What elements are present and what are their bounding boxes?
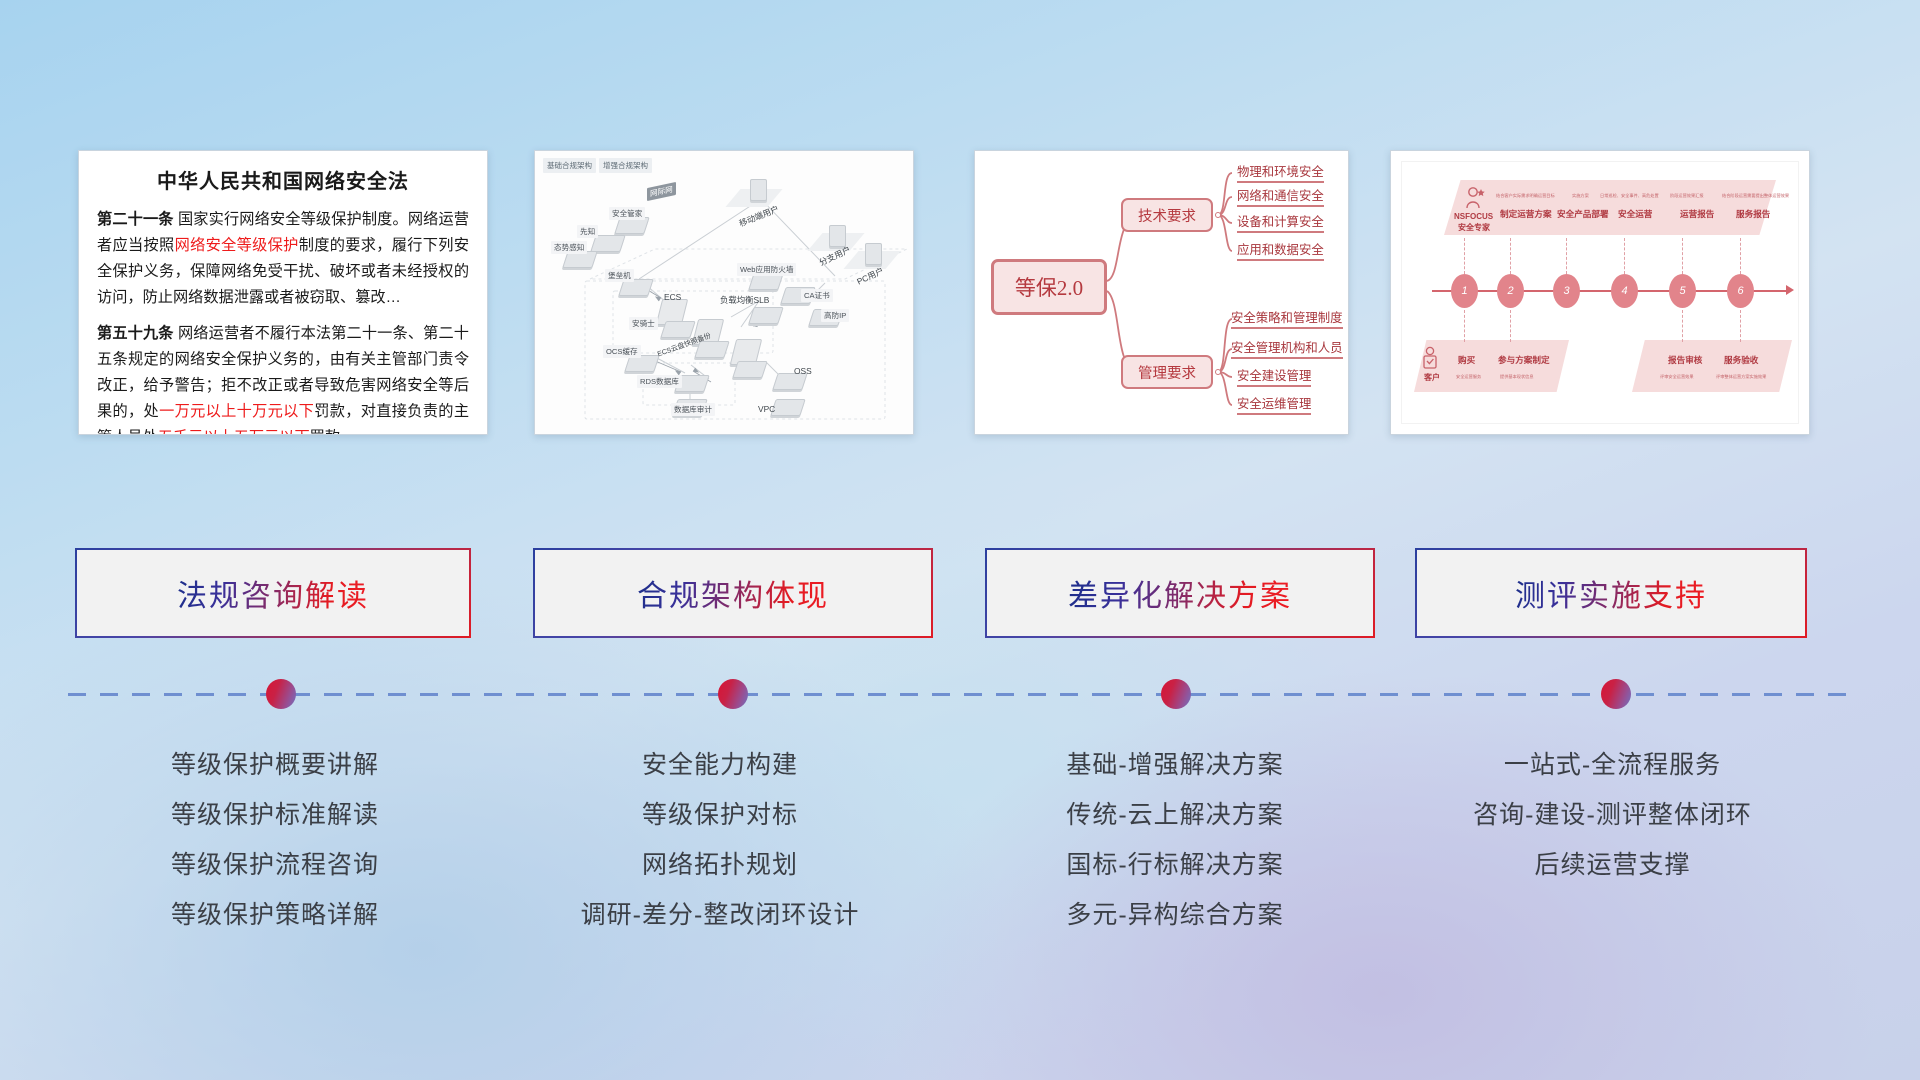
law-article-59: 第五十九条 网络运营者不履行本法第二十一条、第二十五条规定的网络安全保护义务的，… bbox=[97, 321, 469, 435]
top-step-sub: 结合客户实际需求明确运营目标 bbox=[1496, 193, 1555, 199]
timeline-top-band bbox=[1444, 180, 1776, 235]
label-gaofang-ip: 高防IP bbox=[821, 309, 849, 322]
bottom-step-title: 报告审核 bbox=[1668, 354, 1702, 366]
list-item: 等级保护标准解读 bbox=[60, 790, 490, 840]
section-title-box-1[interactable]: 法规咨询解读 bbox=[75, 548, 471, 638]
list-item: 安全能力构建 bbox=[500, 740, 940, 790]
timeline-tick bbox=[1510, 238, 1511, 274]
mindmap-leaf: 安全管理机构和人员 bbox=[1231, 338, 1343, 359]
label-anqishi: 安骑士 bbox=[629, 317, 658, 330]
timeline-tick bbox=[1566, 238, 1567, 274]
article-59-highlight-1: 一万元以上十万元以下 bbox=[159, 403, 314, 420]
article-59-label: 第五十九条 bbox=[97, 325, 174, 342]
section-title-label: 测评实施支持 bbox=[1515, 571, 1707, 615]
section-title-label: 法规咨询解读 bbox=[177, 571, 369, 615]
top-step-title: 安全运营 bbox=[1618, 208, 1652, 220]
list-item: 咨询-建设-测评整体闭环 bbox=[1400, 790, 1825, 840]
top-step-title: 服务报告 bbox=[1736, 208, 1770, 220]
label-slb: 负载均衡SLB bbox=[717, 293, 772, 307]
list-item: 传统-云上解决方案 bbox=[955, 790, 1395, 840]
mindmap-branch-management: 管理要求 bbox=[1121, 355, 1213, 389]
icon-ecs-cluster-d bbox=[732, 361, 768, 378]
security-expert-icon bbox=[1464, 186, 1486, 210]
architecture-canvas: 基础合规架构 增强合规架构 bbox=[535, 151, 913, 434]
top-step-title: 制定运营方案 bbox=[1500, 208, 1552, 220]
mindmap-root: 等保2.0 bbox=[991, 259, 1107, 315]
label-situation-awareness: 态势感知 bbox=[551, 241, 587, 254]
list-item: 基础-增强解决方案 bbox=[955, 740, 1395, 790]
top-step-sub: 日常巡检、安全事件、高危处置 bbox=[1600, 193, 1659, 199]
customer-icon bbox=[1420, 346, 1440, 370]
label-security-butler: 安全管家 bbox=[609, 207, 645, 220]
label-ecs: ECS bbox=[661, 291, 684, 303]
law-article-21: 第二十一条 国家实行网络安全等级保护制度。网络运营者应当按照网络安全等级保护制度… bbox=[97, 207, 469, 312]
icon-slb bbox=[748, 307, 784, 324]
list-item: 国标-行标解决方案 bbox=[955, 840, 1395, 890]
law-title: 中华人民共和国网络安全法 bbox=[97, 165, 469, 194]
mindmap-leaf: 应用和数据安全 bbox=[1237, 240, 1324, 261]
mindmap-branch-technical: 技术要求 bbox=[1121, 198, 1213, 232]
timeline-marker-1[interactable] bbox=[266, 679, 296, 709]
label-xianzhi: 先知 bbox=[577, 225, 598, 238]
architecture-diagram-card[interactable]: 基础合规架构 增强合规架构 bbox=[534, 150, 914, 435]
timeline-step-number: 4 bbox=[1611, 274, 1638, 308]
section-title-box-3[interactable]: 差异化解决方案 bbox=[985, 548, 1375, 638]
label-db-audit: 数据库审计 bbox=[671, 403, 715, 416]
bottom-step-title: 服务验收 bbox=[1724, 354, 1758, 366]
bottom-step-title: 参与方案制定 bbox=[1498, 354, 1550, 366]
bottom-step-sub: 评审安全运营效果 bbox=[1660, 374, 1694, 380]
article-21-label: 第二十一条 bbox=[97, 211, 174, 228]
bottom-step-sub: 评审整体运营方案实施效果 bbox=[1716, 374, 1766, 380]
section-title-label: 合规架构体现 bbox=[637, 571, 829, 615]
label-waf: Web应用防火墙 bbox=[737, 263, 796, 276]
label-rds-database: RDS数据库 bbox=[637, 375, 682, 388]
timeline-marker-2[interactable] bbox=[718, 679, 748, 709]
image-card-row: 中华人民共和国网络安全法 第二十一条 国家实行网络安全等级保护制度。网络运营者应… bbox=[0, 150, 1920, 440]
list-item: 等级保护流程咨询 bbox=[60, 840, 490, 890]
icon-mobile-device bbox=[750, 179, 767, 201]
bottom-step-sub: 安全运营服务 bbox=[1456, 374, 1481, 380]
list-item: 一站式-全流程服务 bbox=[1400, 740, 1825, 790]
timeline-tick bbox=[1682, 238, 1683, 274]
section-title-box-2[interactable]: 合规架构体现 bbox=[533, 548, 933, 638]
label-bastion-host: 堡垒机 bbox=[605, 269, 634, 282]
timeline-step-number: 3 bbox=[1553, 274, 1580, 308]
timeline-step-number: 6 bbox=[1727, 274, 1754, 308]
timeline-inner: NSFOCUS 安全专家 客户 结合客户实际需求明确运营目标 制定运营方案 实施… bbox=[1401, 161, 1799, 424]
law-body: 中华人民共和国网络安全法 第二十一条 国家实行网络安全等级保护制度。网络运营者应… bbox=[79, 151, 487, 435]
article-59-text-c: 罚款。 bbox=[310, 429, 356, 435]
label-oss: OSS bbox=[791, 365, 815, 377]
section-items-3: 基础-增强解决方案 传统-云上解决方案 国标-行标解决方案 多元-异构综合方案 bbox=[955, 740, 1395, 940]
list-item: 网络拓扑规划 bbox=[500, 840, 940, 890]
top-step-sub: 阶段运营效果汇报 bbox=[1670, 193, 1704, 199]
timeline-tick bbox=[1682, 310, 1683, 342]
list-item: 等级保护概要讲解 bbox=[60, 740, 490, 790]
icon-pc-device bbox=[865, 243, 882, 265]
top-step-sub: 实施方案 bbox=[1572, 193, 1589, 199]
section-items-4: 一站式-全流程服务 咨询-建设-测评整体闭环 后续运营支撑 bbox=[1400, 740, 1825, 890]
timeline-tick bbox=[1464, 310, 1465, 342]
label-ocs-cache: OCS缓存 bbox=[603, 345, 641, 358]
list-item: 调研-差分-整改闭环设计 bbox=[500, 890, 940, 940]
timeline-tick bbox=[1464, 238, 1465, 274]
dashed-timeline bbox=[68, 693, 1853, 696]
operations-timeline-card[interactable]: NSFOCUS 安全专家 客户 结合客户实际需求明确运营目标 制定运营方案 实施… bbox=[1390, 150, 1810, 435]
top-step-title: 运营报告 bbox=[1680, 208, 1714, 220]
timeline-canvas: NSFOCUS 安全专家 客户 结合客户实际需求明确运营目标 制定运营方案 实施… bbox=[1391, 151, 1809, 434]
mindmap-leaf: 设备和计算安全 bbox=[1237, 212, 1324, 233]
brand-subtitle: 安全专家 bbox=[1458, 222, 1490, 233]
top-step-title: 安全产品部署 bbox=[1557, 208, 1609, 220]
customer-label: 客户 bbox=[1424, 372, 1440, 383]
section-items-1: 等级保护概要讲解 等级保护标准解读 等级保护流程咨询 等级保护策略详解 bbox=[60, 740, 490, 940]
article-21-highlight: 网络安全等级保护 bbox=[175, 237, 299, 254]
section-title-box-4[interactable]: 测评实施支持 bbox=[1415, 548, 1807, 638]
timeline-marker-3[interactable] bbox=[1161, 679, 1191, 709]
list-item: 后续运营支撑 bbox=[1400, 840, 1825, 890]
mindmap-leaf: 安全建设管理 bbox=[1237, 366, 1311, 387]
mindmap-leaf: 网络和通信安全 bbox=[1237, 186, 1324, 207]
timeline-marker-4[interactable] bbox=[1601, 679, 1631, 709]
section-title-label: 差异化解决方案 bbox=[1068, 571, 1292, 615]
mindmap-leaf: 物理和环境安全 bbox=[1237, 162, 1324, 183]
top-step-sub: 结合阶段运营需要提出整体运营效果 bbox=[1722, 193, 1789, 199]
mindmap-collapse-dot-management[interactable] bbox=[1215, 369, 1221, 375]
bottom-step-sub: 提供基本现状信息 bbox=[1500, 374, 1534, 380]
mindmap-leaf: 安全策略和管理制度 bbox=[1231, 308, 1343, 329]
mindmap-collapse-dot-technical[interactable] bbox=[1215, 212, 1221, 218]
mindmap-leaf: 安全运维管理 bbox=[1237, 394, 1311, 415]
section-items-2: 安全能力构建 等级保护对标 网络拓扑规划 调研-差分-整改闭环设计 bbox=[500, 740, 940, 940]
list-item: 多元-异构综合方案 bbox=[955, 890, 1395, 940]
label-ca-certificate: CA证书 bbox=[801, 289, 833, 302]
timeline-tick bbox=[1624, 238, 1625, 274]
section-title-row: 法规咨询解读 合规架构体现 差异化解决方案 测评实施支持 bbox=[0, 548, 1920, 640]
timeline-step-number: 5 bbox=[1669, 274, 1696, 308]
mindmap-card[interactable]: 等保2.0 技术要求 管理要求 物理和环境安全 网络和通信安全 设备和计算安全 … bbox=[974, 150, 1349, 435]
timeline-step-number: 2 bbox=[1497, 274, 1524, 308]
timeline-tick bbox=[1740, 310, 1741, 342]
timeline-tick bbox=[1510, 310, 1511, 342]
timeline-tick bbox=[1740, 238, 1741, 274]
timeline-bottom-right-band bbox=[1632, 340, 1792, 392]
timeline-step-number: 1 bbox=[1451, 274, 1478, 308]
brand-name: NSFOCUS bbox=[1454, 212, 1493, 221]
law-text-card[interactable]: 中华人民共和国网络安全法 第二十一条 国家实行网络安全等级保护制度。网络运营者应… bbox=[78, 150, 488, 435]
bottom-step-title: 购买 bbox=[1458, 354, 1475, 366]
list-item: 等级保护对标 bbox=[500, 790, 940, 840]
list-item: 等级保护策略详解 bbox=[60, 890, 490, 940]
mindmap-canvas: 等保2.0 技术要求 管理要求 物理和环境安全 网络和通信安全 设备和计算安全 … bbox=[975, 151, 1348, 434]
label-vpc: VPC bbox=[755, 403, 778, 415]
timeline-arrow-icon bbox=[1786, 285, 1794, 295]
article-59-highlight-2: 五千元以上五万元以下 bbox=[158, 429, 310, 435]
